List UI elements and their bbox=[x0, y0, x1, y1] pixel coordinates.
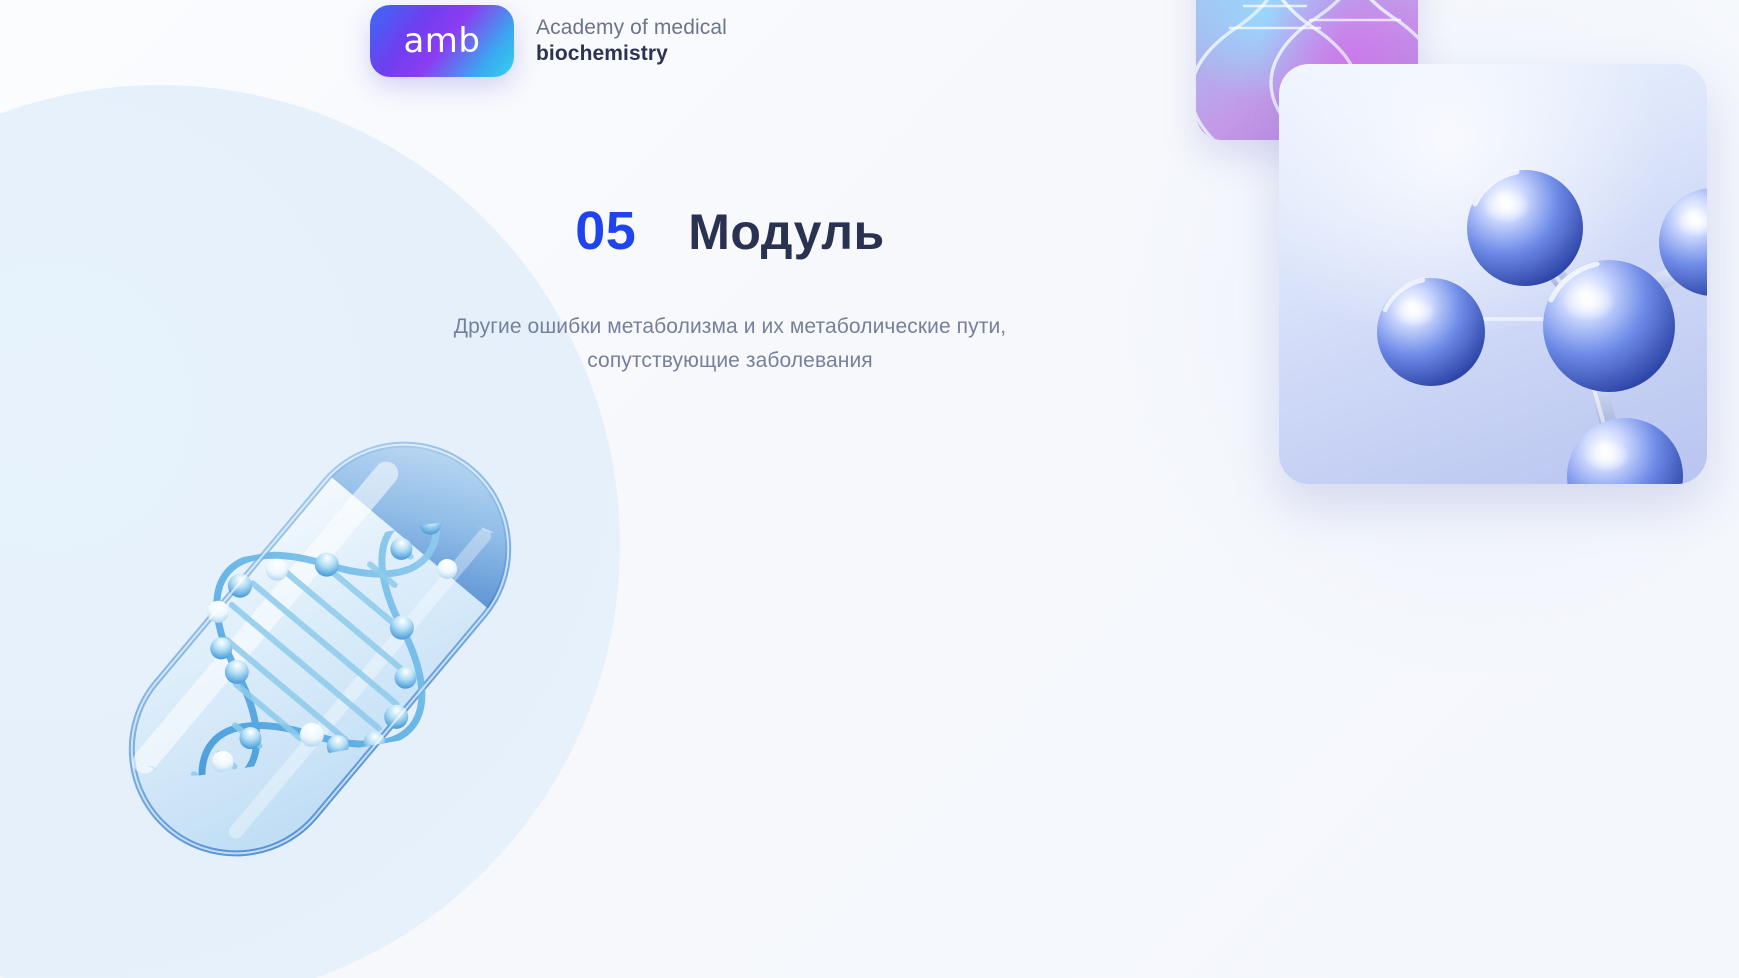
brand-name-line1: Academy of medical bbox=[536, 15, 727, 41]
module-description-line1: Другие ошибки метаболизма и их метаболич… bbox=[390, 310, 1070, 344]
brand-name: Academy of medical biochemistry bbox=[536, 15, 727, 68]
brand-logo[interactable]: amb bbox=[370, 5, 514, 77]
molecule-icon bbox=[1279, 64, 1707, 484]
capsule-dna-image bbox=[60, 390, 580, 950]
module-number: 05 bbox=[575, 200, 636, 262]
brand-name-line2: biochemistry bbox=[536, 41, 727, 67]
module-headline-block: 05 Модуль Другие ошибки метаболизма и их… bbox=[390, 200, 1070, 378]
molecule-model-image bbox=[1279, 64, 1707, 484]
brand-logo-text: amb bbox=[403, 21, 480, 61]
capsule-icon bbox=[60, 390, 580, 950]
module-description-line2: сопутствующие заболевания bbox=[390, 344, 1070, 378]
headline-row: 05 Модуль bbox=[390, 200, 1070, 262]
page-title: Модуль bbox=[688, 203, 885, 261]
brand-header[interactable]: amb Academy of medical biochemistry bbox=[370, 5, 727, 77]
module-description: Другие ошибки метаболизма и их метаболич… bbox=[390, 310, 1070, 378]
